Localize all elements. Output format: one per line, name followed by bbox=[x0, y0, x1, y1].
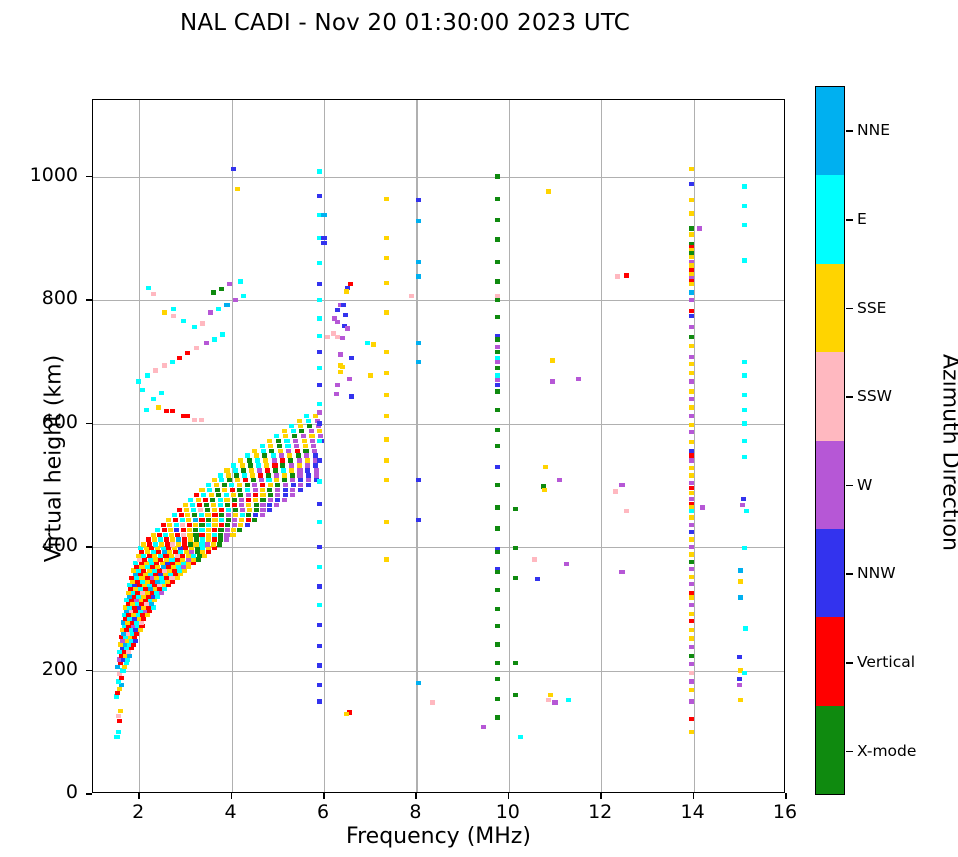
scatter-point bbox=[147, 554, 152, 558]
scatter-point bbox=[689, 481, 694, 485]
x-tick-label: 6 bbox=[293, 801, 353, 823]
scatter-point bbox=[495, 661, 500, 665]
scatter-point bbox=[689, 453, 694, 457]
scatter-point bbox=[170, 360, 175, 364]
scatter-point bbox=[151, 292, 156, 296]
scatter-point bbox=[275, 493, 280, 497]
x-tick-label: 10 bbox=[478, 801, 538, 823]
scatter-point bbox=[278, 449, 283, 453]
scatter-point bbox=[689, 282, 694, 286]
scatter-point bbox=[233, 298, 238, 302]
scatter-point bbox=[371, 342, 376, 346]
scatter-point bbox=[495, 505, 500, 509]
scatter-point bbox=[689, 405, 694, 409]
scatter-point bbox=[206, 518, 211, 522]
scatter-point bbox=[196, 498, 201, 502]
scatter-point bbox=[689, 591, 694, 595]
x-tick-label: 14 bbox=[663, 801, 723, 823]
scatter-point bbox=[737, 655, 742, 659]
scatter-point bbox=[275, 498, 280, 502]
scatter-point bbox=[139, 624, 144, 628]
scatter-point bbox=[254, 508, 259, 512]
scatter-point bbox=[127, 654, 132, 658]
scatter-point bbox=[317, 169, 322, 173]
x-tick bbox=[600, 793, 602, 799]
scatter-point bbox=[282, 478, 287, 482]
scatter-point bbox=[162, 528, 167, 532]
scatter-point bbox=[218, 533, 223, 537]
colorbar-title: Azimuth Direction bbox=[938, 293, 958, 613]
scatter-point bbox=[186, 518, 191, 522]
scatter-point bbox=[689, 603, 694, 607]
scatter-point bbox=[513, 661, 518, 665]
scatter-point bbox=[546, 189, 551, 193]
scatter-point bbox=[184, 508, 189, 512]
scatter-point bbox=[743, 626, 748, 630]
scatter-point bbox=[180, 523, 185, 527]
scatter-point bbox=[199, 542, 204, 546]
scatter-point bbox=[495, 697, 500, 701]
scatter-point bbox=[227, 478, 232, 482]
scatter-point bbox=[188, 537, 193, 541]
scatter-point bbox=[115, 665, 120, 669]
scatter-point bbox=[181, 533, 186, 537]
scatter-point bbox=[313, 414, 318, 418]
scatter-point bbox=[117, 719, 122, 723]
scatter-point bbox=[314, 473, 319, 477]
scatter-point bbox=[233, 513, 238, 517]
colorbar-label-ssw: SSW bbox=[857, 387, 892, 405]
scatter-point bbox=[206, 537, 211, 541]
scatter-point bbox=[317, 603, 322, 607]
scatter-point bbox=[255, 458, 260, 462]
scatter-point bbox=[247, 458, 252, 462]
scatter-point bbox=[240, 513, 245, 517]
scatter-point bbox=[384, 310, 389, 314]
scatter-point bbox=[224, 498, 229, 502]
scatter-point bbox=[689, 232, 694, 236]
colorbar-segment-sse bbox=[816, 264, 844, 352]
scatter-point bbox=[306, 419, 311, 423]
scatter-point bbox=[481, 725, 486, 729]
scatter-point bbox=[283, 488, 288, 492]
scatter-point bbox=[245, 523, 250, 527]
scatter-point bbox=[178, 546, 183, 550]
scatter-point bbox=[689, 449, 694, 453]
colorbar-tick bbox=[846, 308, 853, 310]
scatter-point bbox=[268, 493, 273, 497]
scatter-point bbox=[226, 473, 231, 477]
scatter-point bbox=[140, 388, 145, 392]
scatter-point bbox=[166, 518, 171, 522]
scatter-point bbox=[284, 439, 289, 443]
scatter-point bbox=[211, 290, 216, 294]
scatter-point bbox=[317, 644, 322, 648]
scatter-point bbox=[317, 429, 322, 433]
scatter-point bbox=[257, 468, 262, 472]
scatter-point bbox=[146, 537, 151, 541]
scatter-point bbox=[268, 483, 273, 487]
y-tick bbox=[86, 176, 92, 178]
scatter-point bbox=[742, 393, 747, 397]
scatter-point bbox=[232, 518, 237, 522]
scatter-point bbox=[689, 523, 694, 527]
scatter-point bbox=[187, 523, 192, 527]
scatter-point bbox=[247, 508, 252, 512]
scatter-point bbox=[689, 717, 694, 721]
scatter-point bbox=[116, 679, 121, 683]
scatter-point bbox=[325, 335, 330, 339]
scatter-point bbox=[274, 434, 279, 438]
scatter-point bbox=[281, 468, 286, 472]
y-tick-label: 1000 bbox=[18, 164, 78, 186]
scatter-point bbox=[219, 513, 224, 517]
scatter-point bbox=[138, 546, 143, 550]
scatter-point bbox=[689, 290, 694, 294]
scatter-point bbox=[198, 508, 203, 512]
scatter-point bbox=[689, 545, 694, 549]
scatter-point bbox=[206, 550, 211, 554]
scatter-point bbox=[689, 582, 694, 586]
scatter-point bbox=[243, 478, 248, 482]
colorbar-tick bbox=[846, 485, 853, 487]
scatter-point bbox=[234, 473, 239, 477]
scatter-point bbox=[169, 533, 174, 537]
scatter-point bbox=[206, 546, 211, 550]
scatter-point bbox=[231, 167, 236, 171]
scatter-point bbox=[245, 488, 250, 492]
scatter-point bbox=[299, 429, 304, 433]
scatter-point bbox=[689, 654, 694, 658]
scatter-point bbox=[155, 594, 160, 598]
scatter-point bbox=[134, 631, 139, 635]
scatter-point bbox=[178, 572, 183, 576]
scatter-point bbox=[624, 509, 629, 513]
scatter-point bbox=[384, 478, 389, 482]
scatter-point bbox=[740, 503, 745, 507]
scatter-point bbox=[224, 303, 229, 307]
scatter-point bbox=[416, 198, 421, 202]
scatter-point bbox=[222, 488, 227, 492]
scatter-point bbox=[199, 528, 204, 532]
scatter-point bbox=[230, 533, 235, 537]
scatter-point bbox=[185, 351, 190, 355]
scatter-point bbox=[275, 483, 280, 487]
scatter-point bbox=[312, 449, 317, 453]
scatter-point bbox=[260, 483, 265, 487]
scatter-point bbox=[211, 503, 216, 507]
scatter-point bbox=[126, 650, 131, 654]
scatter-point bbox=[212, 546, 217, 550]
scatter-point bbox=[145, 373, 150, 377]
scatter-point bbox=[256, 463, 261, 467]
scatter-point bbox=[289, 424, 294, 428]
scatter-point bbox=[689, 298, 694, 302]
scatter-point bbox=[260, 503, 265, 507]
scatter-point bbox=[235, 187, 240, 191]
scatter-point bbox=[335, 383, 340, 387]
scatter-point bbox=[186, 565, 191, 569]
scatter-point bbox=[218, 537, 223, 541]
scatter-point bbox=[224, 493, 229, 497]
colorbar-label-e: E bbox=[857, 210, 867, 228]
scatter-point bbox=[264, 463, 269, 467]
scatter-point bbox=[296, 453, 301, 457]
scatter-point bbox=[199, 418, 204, 422]
scatter-point bbox=[349, 356, 354, 360]
y-tick-label: 800 bbox=[18, 287, 78, 309]
scatter-point bbox=[231, 493, 236, 497]
scatter-point bbox=[177, 508, 182, 512]
scatter-point bbox=[689, 636, 694, 640]
colorbar-tick bbox=[846, 662, 853, 664]
x-tick-label: 4 bbox=[201, 801, 261, 823]
scatter-point bbox=[283, 483, 288, 487]
scatter-point bbox=[297, 458, 302, 462]
scatter-point bbox=[156, 550, 161, 554]
scatter-point bbox=[384, 414, 389, 418]
scatter-point bbox=[186, 554, 191, 558]
scatter-point bbox=[240, 508, 245, 512]
scatter-point bbox=[116, 714, 121, 718]
scatter-point bbox=[214, 483, 219, 487]
scatter-point bbox=[384, 197, 389, 201]
scatter-point bbox=[124, 646, 129, 650]
scatter-point bbox=[495, 366, 500, 370]
scatter-point bbox=[689, 679, 694, 683]
scatter-points bbox=[93, 100, 784, 792]
scatter-point bbox=[314, 468, 319, 472]
scatter-point bbox=[689, 473, 694, 477]
scatter-point bbox=[266, 478, 271, 482]
scatter-point bbox=[212, 523, 217, 527]
scatter-point bbox=[495, 260, 500, 264]
scatter-point bbox=[144, 561, 149, 565]
scatter-point bbox=[368, 373, 373, 377]
scatter-point bbox=[689, 182, 694, 186]
scatter-point bbox=[222, 483, 227, 487]
scatter-point bbox=[246, 493, 251, 497]
scatter-point bbox=[689, 226, 694, 230]
scatter-point bbox=[384, 393, 389, 397]
scatter-point bbox=[136, 554, 141, 558]
colorbar-tick bbox=[846, 573, 853, 575]
scatter-point bbox=[241, 468, 246, 472]
scatter-point bbox=[129, 646, 134, 650]
scatter-point bbox=[495, 588, 500, 592]
y-tick bbox=[86, 670, 92, 672]
scatter-point bbox=[283, 493, 288, 497]
scatter-point bbox=[384, 557, 389, 561]
scatter-point bbox=[272, 463, 277, 467]
colorbar-segment-vertical bbox=[816, 617, 844, 705]
scatter-point bbox=[384, 256, 389, 260]
scatter-point bbox=[233, 468, 238, 472]
scatter-point bbox=[225, 528, 230, 532]
scatter-point bbox=[158, 557, 163, 561]
scatter-point bbox=[742, 184, 747, 188]
scatter-point bbox=[136, 379, 141, 383]
scatter-point bbox=[689, 211, 694, 215]
scatter-point bbox=[170, 409, 175, 413]
scatter-point bbox=[254, 453, 259, 457]
scatter-point bbox=[291, 429, 296, 433]
scatter-point bbox=[168, 528, 173, 532]
scatter-point bbox=[249, 468, 254, 472]
scatter-point bbox=[742, 360, 747, 364]
scatter-point bbox=[219, 518, 224, 522]
scatter-point bbox=[349, 394, 354, 398]
scatter-point bbox=[365, 341, 370, 345]
scatter-point bbox=[338, 352, 343, 356]
scatter-point bbox=[321, 241, 326, 245]
scatter-point bbox=[495, 350, 500, 354]
scatter-point bbox=[495, 483, 500, 487]
scatter-point bbox=[200, 550, 205, 554]
scatter-point bbox=[495, 373, 500, 377]
scatter-point bbox=[175, 533, 180, 537]
scatter-point bbox=[267, 439, 272, 443]
scatter-point bbox=[194, 346, 199, 350]
scatter-point bbox=[212, 528, 217, 532]
scatter-point bbox=[317, 282, 322, 286]
scatter-point bbox=[297, 419, 302, 423]
scatter-point bbox=[495, 298, 500, 302]
scatter-point bbox=[242, 473, 247, 477]
scatter-point bbox=[271, 453, 276, 457]
scatter-point bbox=[115, 691, 120, 695]
scatter-point bbox=[180, 518, 185, 522]
scatter-point bbox=[304, 453, 309, 457]
scatter-point bbox=[689, 730, 694, 734]
scatter-point bbox=[384, 236, 389, 240]
scatter-point bbox=[335, 320, 340, 324]
scatter-point bbox=[738, 568, 743, 572]
scatter-point bbox=[495, 428, 500, 432]
scatter-point bbox=[182, 568, 187, 572]
scatter-point bbox=[206, 483, 211, 487]
colorbar-segment-e bbox=[816, 175, 844, 263]
scatter-point bbox=[246, 518, 251, 522]
scatter-point bbox=[186, 557, 191, 561]
scatter-point bbox=[142, 557, 147, 561]
scatter-point bbox=[306, 473, 311, 477]
scatter-point bbox=[155, 546, 160, 550]
x-tick bbox=[415, 793, 417, 799]
scatter-point bbox=[317, 316, 322, 320]
scatter-point bbox=[253, 498, 258, 502]
scatter-point bbox=[218, 473, 223, 477]
scatter-point bbox=[344, 289, 349, 293]
scatter-point bbox=[114, 694, 119, 698]
scatter-point bbox=[416, 341, 421, 345]
scatter-point bbox=[179, 513, 184, 517]
scatter-point bbox=[182, 537, 187, 541]
colorbar-segment-x-mode bbox=[816, 706, 844, 794]
scatter-point bbox=[171, 314, 176, 318]
scatter-point bbox=[689, 537, 694, 541]
scatter-point bbox=[317, 261, 322, 265]
scatter-point bbox=[192, 418, 197, 422]
scatter-point bbox=[172, 546, 177, 550]
scatter-point bbox=[291, 483, 296, 487]
scatter-point bbox=[202, 554, 207, 558]
scatter-point bbox=[495, 218, 500, 222]
scatter-point bbox=[619, 483, 624, 487]
scatter-point bbox=[289, 463, 294, 467]
scatter-point bbox=[260, 498, 265, 502]
scatter-point bbox=[301, 434, 306, 438]
scatter-point bbox=[267, 503, 272, 507]
scatter-point bbox=[309, 434, 314, 438]
scatter-point bbox=[239, 498, 244, 502]
scatter-point bbox=[153, 368, 158, 372]
scatter-point bbox=[170, 537, 175, 541]
scatter-point bbox=[495, 237, 500, 241]
scatter-point bbox=[543, 465, 548, 469]
scatter-point bbox=[304, 414, 309, 418]
scatter-point bbox=[689, 263, 694, 267]
scatter-point bbox=[276, 439, 281, 443]
scatter-point bbox=[341, 303, 346, 307]
scatter-point bbox=[118, 709, 123, 713]
scatter-point bbox=[175, 554, 180, 558]
scatter-point bbox=[170, 579, 175, 583]
scatter-point bbox=[141, 568, 146, 572]
scatter-point bbox=[208, 310, 213, 314]
scatter-point bbox=[689, 198, 694, 202]
scatter-point bbox=[165, 561, 170, 565]
scatter-point bbox=[317, 699, 322, 703]
scatter-point bbox=[495, 465, 500, 469]
scatter-point bbox=[689, 255, 694, 259]
scatter-point bbox=[200, 321, 205, 325]
scatter-point bbox=[689, 167, 694, 171]
scatter-point bbox=[513, 576, 518, 580]
scatter-point bbox=[212, 513, 217, 517]
scatter-point bbox=[305, 468, 310, 472]
scatter-point bbox=[212, 518, 217, 522]
scatter-point bbox=[246, 503, 251, 507]
x-tick bbox=[138, 793, 140, 799]
scatter-point bbox=[159, 391, 164, 395]
scatter-point bbox=[613, 489, 618, 493]
scatter-point bbox=[742, 439, 747, 443]
scatter-point bbox=[689, 645, 694, 649]
scatter-point bbox=[297, 473, 302, 477]
y-axis-label: Virtual height (km) bbox=[42, 309, 67, 609]
scatter-point bbox=[138, 628, 143, 632]
scatter-point bbox=[149, 546, 154, 550]
scatter-point bbox=[689, 575, 694, 579]
scatter-point bbox=[162, 363, 167, 367]
scatter-point bbox=[317, 663, 322, 667]
scatter-point bbox=[384, 350, 389, 354]
scatter-point bbox=[495, 444, 500, 448]
scatter-point bbox=[689, 430, 694, 434]
scatter-point bbox=[384, 371, 389, 375]
scatter-point bbox=[535, 577, 540, 581]
scatter-point bbox=[344, 712, 349, 716]
scatter-point bbox=[181, 319, 186, 323]
scatter-point bbox=[290, 493, 295, 497]
scatter-point bbox=[117, 672, 122, 676]
scatter-point bbox=[317, 402, 322, 406]
scatter-point bbox=[310, 439, 315, 443]
scatter-point bbox=[546, 698, 551, 702]
scatter-point bbox=[141, 616, 146, 620]
scatter-point bbox=[163, 554, 168, 558]
